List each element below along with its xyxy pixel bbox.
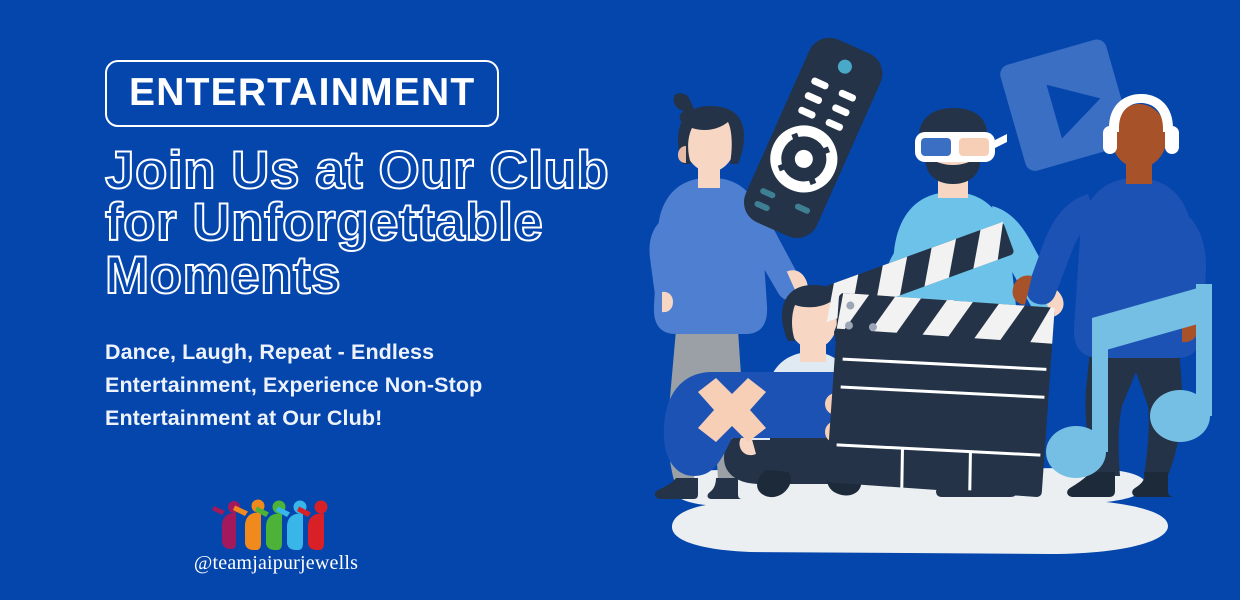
entertainment-illustration bbox=[640, 0, 1240, 600]
team-people-logo-icon bbox=[212, 498, 340, 550]
social-handle: @teamjaipurjewells bbox=[176, 552, 376, 575]
subtitle-text: Dance, Laugh, Repeat - Endless Entertain… bbox=[105, 336, 665, 434]
text-column: ENTERTAINMENT Join Us at Our Club for Un… bbox=[105, 60, 665, 434]
category-badge: ENTERTAINMENT bbox=[105, 60, 499, 127]
category-badge-label: ENTERTAINMENT bbox=[129, 73, 475, 112]
entertainment-banner: ENTERTAINMENT Join Us at Our Club for Un… bbox=[0, 0, 1240, 600]
page-title: Join Us at Our Club for Unforgettable Mo… bbox=[105, 145, 665, 302]
vr-goggles-icon bbox=[915, 132, 1007, 162]
tv-remote-icon bbox=[737, 31, 890, 245]
brand-block: @teamjaipurjewells bbox=[176, 498, 376, 575]
